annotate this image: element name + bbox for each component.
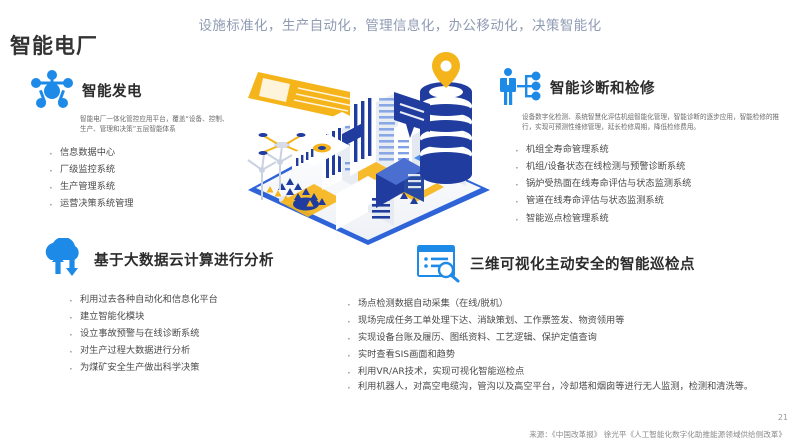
bullet-list: 利用过去各种自动化和信息化平台 建立智能化模块 设立事故预警与在线诊断系统 对生… [66,291,328,376]
section-header: 基于大数据云计算进行分析 [38,238,328,280]
list-item: 智能巡点检管理系统 [512,210,796,227]
list-item: 运营决策系统管理 [46,195,243,212]
list-item: 实现设备台账及履历、图纸资料、工艺逻辑、保护定值查询 [344,329,799,346]
bullet-list: 信息数据中心 厂级监控系统 生产管理系统 运营决策系统管理 [46,144,243,212]
bullet-list: 机组全寿命管理系统 机组/设备状态在线检测与预警诊断系统 锅炉受热面在线寿命评估… [512,141,796,226]
illustration-svg [218,50,518,265]
section-title: 三维可视化主动安全的智能巡检点 [470,253,695,274]
section-title: 智能诊断和检修 [550,77,655,98]
section-smart-diagnosis-maintenance: 智能诊断和检修 设备数字化检测、系统智慧化评估机组智能化管理，智能诊断的逐步应用… [496,66,796,227]
network-hub-icon [30,70,74,110]
list-item: 机组全寿命管理系统 [512,141,796,158]
header-tagline: 设施标准化，生产自动化，管理信息化，办公移动化，决策智能化 [0,14,800,34]
map-pin-icon [432,52,460,88]
source-citation: 来源：《中国改革报》 徐光平《人工智能化数字化助推能源领域供给侧改革》 [529,429,786,440]
list-item: 实时查看SIS画面和趋势 [344,346,799,363]
person-diagnostics-icon [496,66,542,108]
section-header: 智能诊断和检修 [496,66,796,108]
list-item: 现场完成任务工单处理下达、消缺策划、工作票签发、物资领用等 [344,312,799,329]
list-item: 场点检测数据自动采集（在线/脱机） [344,295,799,312]
list-item: 生产管理系统 [46,178,243,195]
section-header: 智能发电 [30,70,243,110]
slide-root: 设施标准化，生产自动化，管理信息化，办公移动化，决策智能化 智能电厂 [0,0,800,446]
list-item: 为煤矿安全生产做出科学决策 [66,359,328,376]
list-item: 设立事故预警与在线诊断系统 [66,325,328,342]
section-header: 三维可视化主动安全的智能巡检点 [416,243,800,283]
section-3d-visual-inspection: 三维可视化主动安全的智能巡检点 场点检测数据自动采集（在线/脱机） 现场完成任务… [416,243,800,395]
list-item: 对生产过程大数据进行分析 [66,342,328,359]
bullet-list: 场点检测数据自动采集（在线/脱机） 现场完成任务工单处理下达、消缺策划、工作票签… [344,295,799,395]
list-item: 利用过去各种自动化和信息化平台 [66,291,328,308]
list-item: 厂级监控系统 [46,161,243,178]
list-item: 利用机器人，对高空电缆沟，管沟以及高空平台，冷却塔和烟囱等进行无人监测，检测和清… [344,380,799,395]
section-bigdata-cloud-analysis: 基于大数据云计算进行分析 利用过去各种自动化和信息化平台 建立智能化模块 设立事… [38,238,328,376]
section-smart-power-generation: 智能发电 智能电厂一体化管控应用平台，覆盖“设备、控制、生产、管理和决策”五层智… [28,70,243,213]
document-search-icon [416,243,462,283]
page-number: 21 [778,413,788,422]
list-item: 建立智能化模块 [66,308,328,325]
section-description: 智能电厂一体化管控应用平台，覆盖“设备、控制、生产、管理和决策”五层智能体系 [80,114,232,134]
section-title: 基于大数据云计算进行分析 [94,249,274,270]
isometric-city-illustration [218,50,518,265]
page-title: 智能电厂 [10,30,98,60]
section-title: 智能发电 [82,80,142,101]
list-item: 信息数据中心 [46,144,243,161]
list-item: 管道在线寿命评估与状态监测系统 [512,192,796,209]
list-item: 机组/设备状态在线检测与预警诊断系统 [512,158,796,175]
cloud-sync-icon [38,238,86,280]
list-item: 锅炉受热面在线寿命评估与状态监测系统 [512,175,796,192]
data-tower [420,82,472,184]
section-description: 设备数字化检测、系统智慧化评估机组智能化管理，智能诊断的逐步应用，智能检修的推行… [522,112,786,132]
list-item: 利用VR/AR技术，实现可视化智能巡检点 [344,363,799,380]
